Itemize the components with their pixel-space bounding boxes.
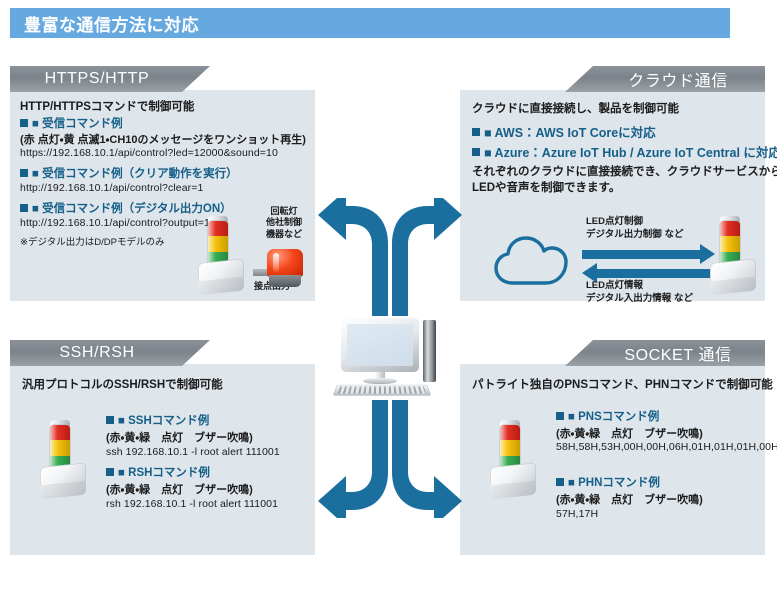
cloud-out-label-2: デジタル出力制御 など	[586, 229, 683, 241]
monitor-screen	[347, 324, 413, 366]
signal-tower-icon	[38, 425, 90, 499]
bullet-square-icon	[20, 119, 28, 127]
tower-led-red	[50, 425, 70, 440]
ssh-sub-1: (赤・黄・緑 点灯 ブザー吹鳴)	[106, 429, 253, 445]
panel-tab-cloud: クラウド通信	[565, 66, 765, 92]
tower-led-yellow	[720, 236, 740, 251]
socket-cmd-1: 58H,58H,53H,00H,00H,06H,01H,01H,01H,00H,…	[556, 441, 724, 454]
socket-lead-text: パトライト独自のPNSコマンド、PHNコマンドで制御可能	[472, 376, 773, 392]
bullet-square-icon	[472, 128, 480, 136]
cloud-out-label-1: LED点灯制御	[586, 216, 643, 228]
ssh-cmd-2: rsh 192.168.10.1 -l root alert 111001	[106, 498, 278, 510]
arrow-to-cloud-icon	[392, 198, 464, 316]
panel-https-http: HTTPS/HTTP HTTP/HTTPSコマンドで制御可能 ■ 受信コマンド例…	[10, 66, 315, 301]
cloud-lead-text: クラウドに直接接続し、製品を制御可能	[472, 100, 679, 116]
https-cmd-2: http://192.168.10.1/api/control?clear=1	[20, 182, 203, 194]
bullet-square-icon	[472, 148, 480, 156]
panel-ssh-rsh: SSH/RSH 汎用プロトコルのSSH/RSHで制御可能 ■ SSHコマンド例 …	[10, 340, 315, 555]
ssh-heading-2-label: ■ RSHコマンド例	[118, 464, 210, 480]
ssh-heading-1-label: ■ SSHコマンド例	[118, 412, 209, 428]
infographic-page: 豊富な通信方法に対応 HTTPS/HTTP HTTP/HTTPSコマンドで制御可…	[0, 0, 777, 601]
cloud-in-label-2: デジタル入出力情報 など	[586, 293, 693, 305]
signal-tower-icon	[196, 221, 248, 295]
ssh-sub-2: (赤・黄・緑 点灯 ブザー吹鳴)	[106, 481, 253, 497]
beacon-base	[269, 275, 301, 287]
https-cmd-3: http://192.168.10.1/api/control?output=1	[20, 217, 210, 229]
panel-cloud: クラウド通信 クラウドに直接接続し、製品を制御可能 ■ AWS：AWS IoT …	[460, 66, 765, 301]
https-heading-3-label: ■ 受信コマンド例（デジタル出力ON）	[32, 200, 232, 216]
tower-led-yellow	[208, 236, 228, 251]
arrow-to-ssh-icon	[316, 400, 388, 518]
ssh-heading-1: ■ SSHコマンド例	[106, 412, 209, 428]
bullet-square-icon	[106, 468, 114, 476]
https-sub-1: (赤 点灯・黄 点滅1・CH10のメッセージをワンショット再生)	[20, 131, 306, 147]
page-banner: 豊富な通信方法に対応	[10, 8, 730, 38]
bullet-square-icon	[20, 204, 28, 212]
cloud-desc-line2: LEDや音声を制御できます。	[472, 179, 620, 195]
tower-led-red	[720, 221, 740, 236]
cloud-bullet-aws: ■ AWS：AWS IoT Coreに対応	[472, 122, 656, 141]
computer-icon	[335, 318, 445, 398]
https-heading-1: ■ 受信コマンド例	[20, 115, 123, 131]
rotating-beacon-icon	[267, 249, 303, 289]
https-heading-2-label: ■ 受信コマンド例（クリア動作を実行）	[32, 165, 238, 181]
keyboard-icon	[333, 385, 431, 396]
https-note: ※デジタル出力はD/DPモデルのみ	[20, 234, 164, 248]
bullet-square-icon	[556, 412, 564, 420]
socket-heading-2: ■ PHNコマンド例	[556, 474, 660, 490]
keyboard-keys	[338, 387, 427, 394]
arrow-to-socket-icon	[392, 400, 464, 518]
cloud-in-label-1: LED点灯情報	[586, 280, 643, 292]
socket-sub-2: (赤・黄・緑 点灯 ブザー吹鳴)	[556, 491, 703, 507]
signal-tower-icon	[708, 221, 760, 295]
https-lead-text: HTTP/HTTPSコマンドで制御可能	[20, 98, 194, 114]
socket-heading-1-label: ■ PNSコマンド例	[568, 408, 659, 424]
pc-tower	[423, 320, 436, 382]
page-title: 豊富な通信方法に対応	[10, 11, 199, 36]
https-cmd-1: https://192.168.10.1/api/control?led=120…	[20, 147, 278, 159]
cloud-desc-line1: それぞれのクラウドに直接接続でき、クラウドサービスから	[472, 163, 777, 179]
https-heading-1-label: ■ 受信コマンド例	[32, 115, 123, 131]
tab-label: クラウド通信	[628, 67, 728, 91]
https-heading-3: ■ 受信コマンド例（デジタル出力ON）	[20, 200, 232, 216]
cloud-shape	[493, 236, 571, 288]
cloud-bullet-azure: ■ Azure：Azure IoT Hub / Azure IoT Centra…	[472, 142, 777, 161]
ssh-cmd-1: ssh 192.168.10.1 -l root alert 111001	[106, 446, 280, 458]
cloud-bullet-aws-label: ■ AWS：AWS IoT Coreに対応	[484, 122, 656, 141]
cloud-icon	[493, 236, 571, 288]
tower-led-red	[208, 221, 228, 236]
https-heading-2: ■ 受信コマンド例（クリア動作を実行）	[20, 165, 238, 181]
tower-led-yellow	[50, 440, 70, 455]
socket-heading-2-label: ■ PHNコマンド例	[568, 474, 660, 490]
tab-label: SSH/RSH	[59, 344, 134, 362]
ssh-heading-2: ■ RSHコマンド例	[106, 464, 210, 480]
monitor-stand	[363, 378, 397, 384]
panel-socket: SOCKET 通信 パトライト独自のPNSコマンド、PHNコマンドで制御可能 ■…	[460, 340, 765, 555]
signal-tower-icon	[488, 425, 540, 499]
socket-cmd-2: 57H,17H	[556, 508, 598, 520]
bullet-square-icon	[20, 169, 28, 177]
external-device-label: 回転灯他社制御機器など	[256, 206, 312, 240]
panel-tab-https-http: HTTPS/HTTP	[10, 66, 210, 92]
cloud-to-device-arrow-icon	[582, 250, 700, 259]
cloud-bullet-azure-label: ■ Azure：Azure IoT Hub / Azure IoT Centra…	[484, 142, 777, 161]
arrow-to-https-icon	[316, 198, 388, 316]
panel-tab-socket: SOCKET 通信	[565, 340, 765, 366]
tower-led-red	[500, 425, 520, 440]
socket-heading-1: ■ PNSコマンド例	[556, 408, 659, 424]
tab-label: HTTPS/HTTP	[45, 70, 150, 88]
bullet-square-icon	[106, 416, 114, 424]
tab-label: SOCKET 通信	[624, 341, 731, 365]
bullet-square-icon	[556, 478, 564, 486]
socket-sub-1: (赤・黄・緑 点灯 ブザー吹鳴)	[556, 425, 703, 441]
panel-tab-ssh-rsh: SSH/RSH	[10, 340, 210, 366]
beacon-highlight	[273, 253, 279, 272]
tower-led-yellow	[500, 440, 520, 455]
device-to-cloud-arrow-icon	[597, 269, 715, 278]
ssh-lead-text: 汎用プロトコルのSSH/RSHで制御可能	[22, 376, 223, 392]
